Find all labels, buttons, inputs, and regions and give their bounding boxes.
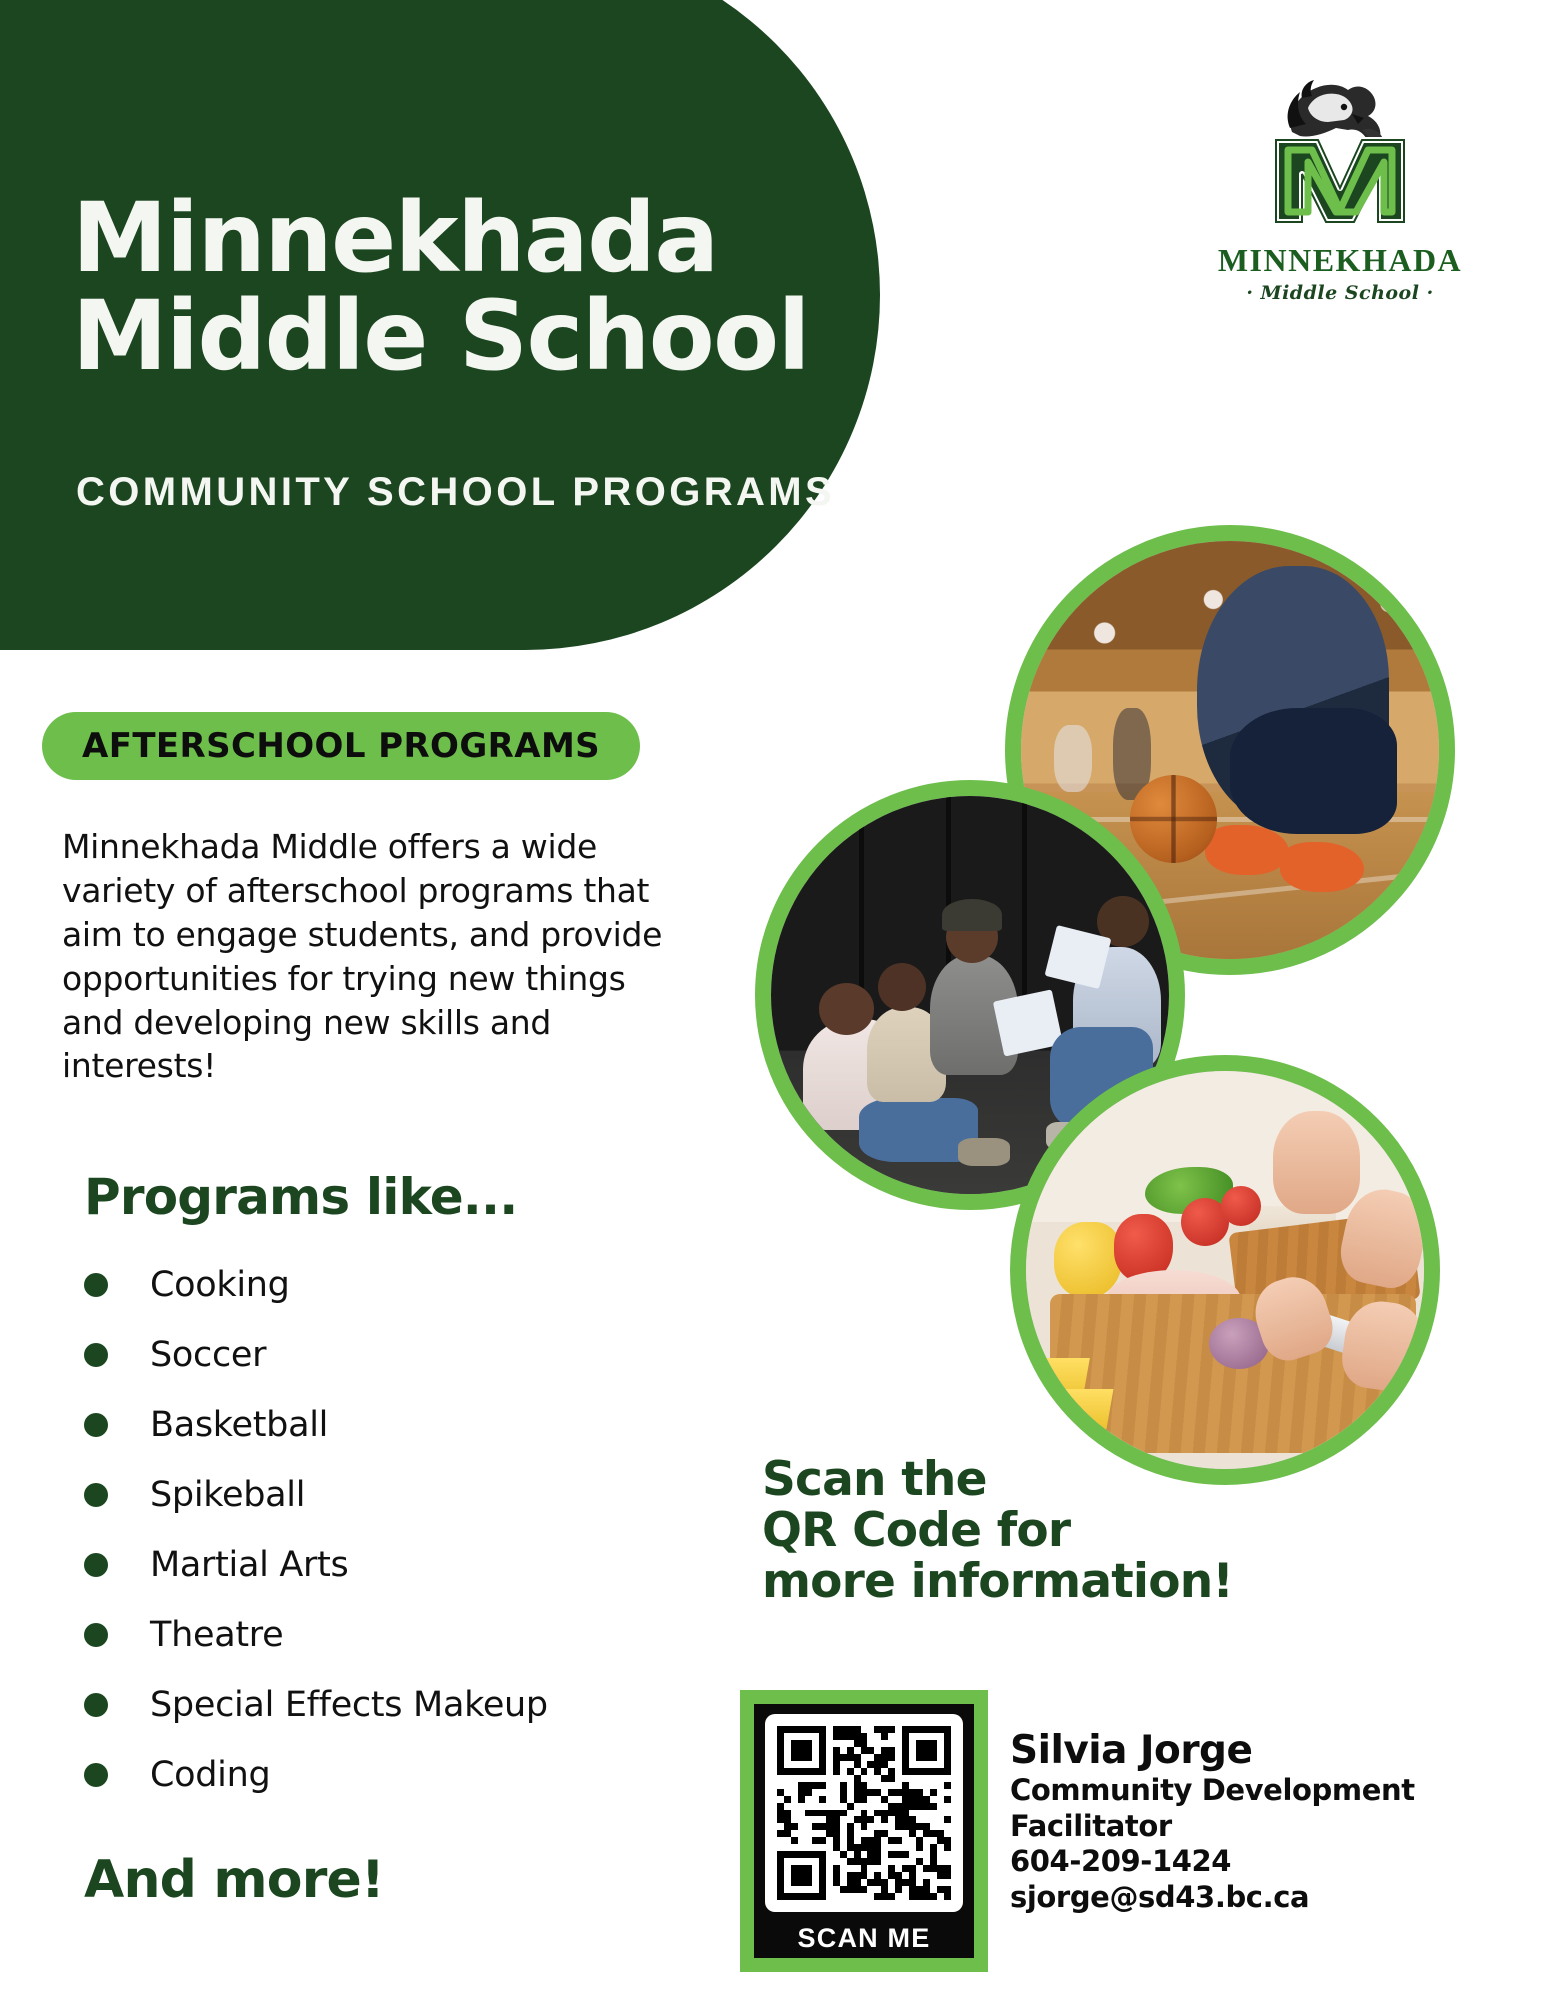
- list-item-label: Cooking: [150, 1265, 290, 1305]
- bullet-dot-icon: [84, 1763, 108, 1787]
- and-more-text: And more!: [84, 1850, 384, 1910]
- scan-me-caption: SCAN ME: [798, 1923, 931, 1954]
- list-item-label: Basketball: [150, 1405, 328, 1445]
- horse-mascot-icon: [1240, 70, 1440, 240]
- list-item: Martial Arts: [84, 1530, 684, 1600]
- list-item-label: Special Effects Makeup: [150, 1685, 548, 1725]
- school-logo: MINNEKHADA · Middle School ·: [1215, 70, 1465, 310]
- contact-phone[interactable]: 604-209-1424: [1010, 1844, 1490, 1880]
- programs-list: Cooking Soccer Basketball Spikeball Mart…: [84, 1250, 684, 1810]
- page-title-line1: Minnekhada: [72, 182, 718, 294]
- contact-name: Silvia Jorge: [1010, 1730, 1490, 1773]
- page-subtitle: COMMUNITY SCHOOL PROGRAMS: [76, 470, 835, 515]
- list-item-label: Theatre: [150, 1615, 283, 1655]
- qr-code-block[interactable]: SCAN ME: [740, 1690, 988, 1972]
- list-item-label: Martial Arts: [150, 1545, 348, 1585]
- cooking-photo: [1010, 1055, 1440, 1485]
- list-item-label: Soccer: [150, 1335, 266, 1375]
- bullet-dot-icon: [84, 1413, 108, 1437]
- logo-wordmark: MINNEKHADA: [1215, 242, 1465, 279]
- qr-code-image[interactable]: [765, 1714, 963, 1912]
- list-item: Theatre: [84, 1600, 684, 1670]
- scan-heading-line1: Scan the: [762, 1455, 1233, 1506]
- poster-canvas: Minnekhada Middle School COMMUNITY SCHOO…: [0, 0, 1545, 2000]
- bullet-dot-icon: [84, 1623, 108, 1647]
- list-item: Spikeball: [84, 1460, 684, 1530]
- list-item: Basketball: [84, 1390, 684, 1460]
- list-item-label: Spikeball: [150, 1475, 305, 1515]
- list-item: Coding: [84, 1740, 684, 1810]
- scan-heading: Scan the QR Code for more information!: [762, 1455, 1233, 1607]
- bullet-dot-icon: [84, 1693, 108, 1717]
- bullet-dot-icon: [84, 1553, 108, 1577]
- contact-role-line2: Facilitator: [1010, 1809, 1490, 1845]
- contact-email[interactable]: sjorge@sd43.bc.ca: [1010, 1880, 1490, 1916]
- list-item: Cooking: [84, 1250, 684, 1320]
- list-item-label: Coding: [150, 1755, 270, 1795]
- bullet-dot-icon: [84, 1483, 108, 1507]
- bullet-dot-icon: [84, 1343, 108, 1367]
- afterschool-programs-badge: AFTERSCHOOL PROGRAMS: [42, 712, 640, 780]
- list-item: Special Effects Makeup: [84, 1670, 684, 1740]
- contact-role-line1: Community Development: [1010, 1773, 1490, 1809]
- scan-heading-line3: more information!: [762, 1557, 1233, 1608]
- intro-paragraph: Minnekhada Middle offers a wide variety …: [62, 825, 682, 1088]
- logo-sub-wordmark: · Middle School ·: [1215, 282, 1465, 304]
- page-title-line2: Middle School: [72, 288, 812, 386]
- programs-heading: Programs like...: [84, 1168, 517, 1226]
- bullet-dot-icon: [84, 1273, 108, 1297]
- page-title: Minnekhada Middle School: [72, 190, 812, 386]
- scan-heading-line2: QR Code for: [762, 1506, 1233, 1557]
- list-item: Soccer: [84, 1320, 684, 1390]
- contact-block: Silvia Jorge Community Development Facil…: [1010, 1730, 1490, 1916]
